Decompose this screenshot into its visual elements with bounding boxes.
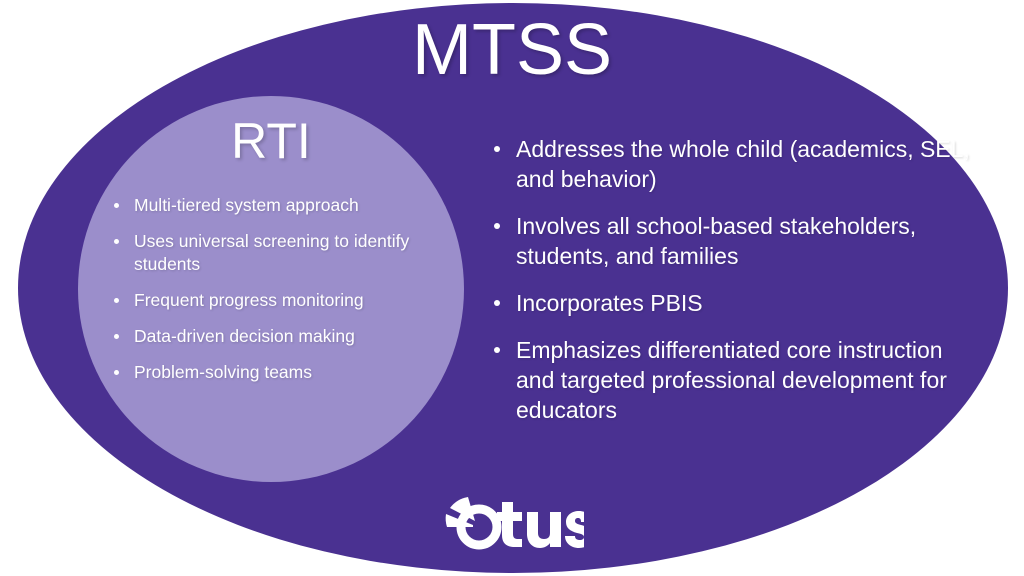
mtss-bullet-item: Involves all school-based stakeholders, … [484, 211, 984, 271]
rti-bullet-item: Uses universal screening to identify stu… [106, 230, 456, 276]
otus-wordmark-icon [497, 502, 584, 548]
rti-bullet-item: Frequent progress monitoring [106, 289, 456, 312]
rti-bullet-list: Multi-tiered system approach Uses univer… [106, 194, 456, 397]
rti-bullet-item: Multi-tiered system approach [106, 194, 456, 217]
mtss-bullet-item: Addresses the whole child (academics, SE… [484, 134, 984, 194]
mtss-bullet-item: Incorporates PBIS [484, 288, 984, 318]
otus-logo [444, 494, 584, 552]
diagram-canvas: MTSS RTI Multi-tiered system approach Us… [0, 0, 1024, 576]
rti-title: RTI [78, 113, 464, 171]
otus-wedge-icon [446, 497, 475, 527]
rti-bullet-item: Problem-solving teams [106, 361, 456, 384]
mtss-title: MTSS [0, 14, 1024, 86]
mtss-bullet-list: Addresses the whole child (academics, SE… [484, 134, 984, 442]
mtss-bullet-item: Emphasizes differentiated core instructi… [484, 335, 984, 425]
rti-bullet-item: Data-driven decision making [106, 325, 456, 348]
